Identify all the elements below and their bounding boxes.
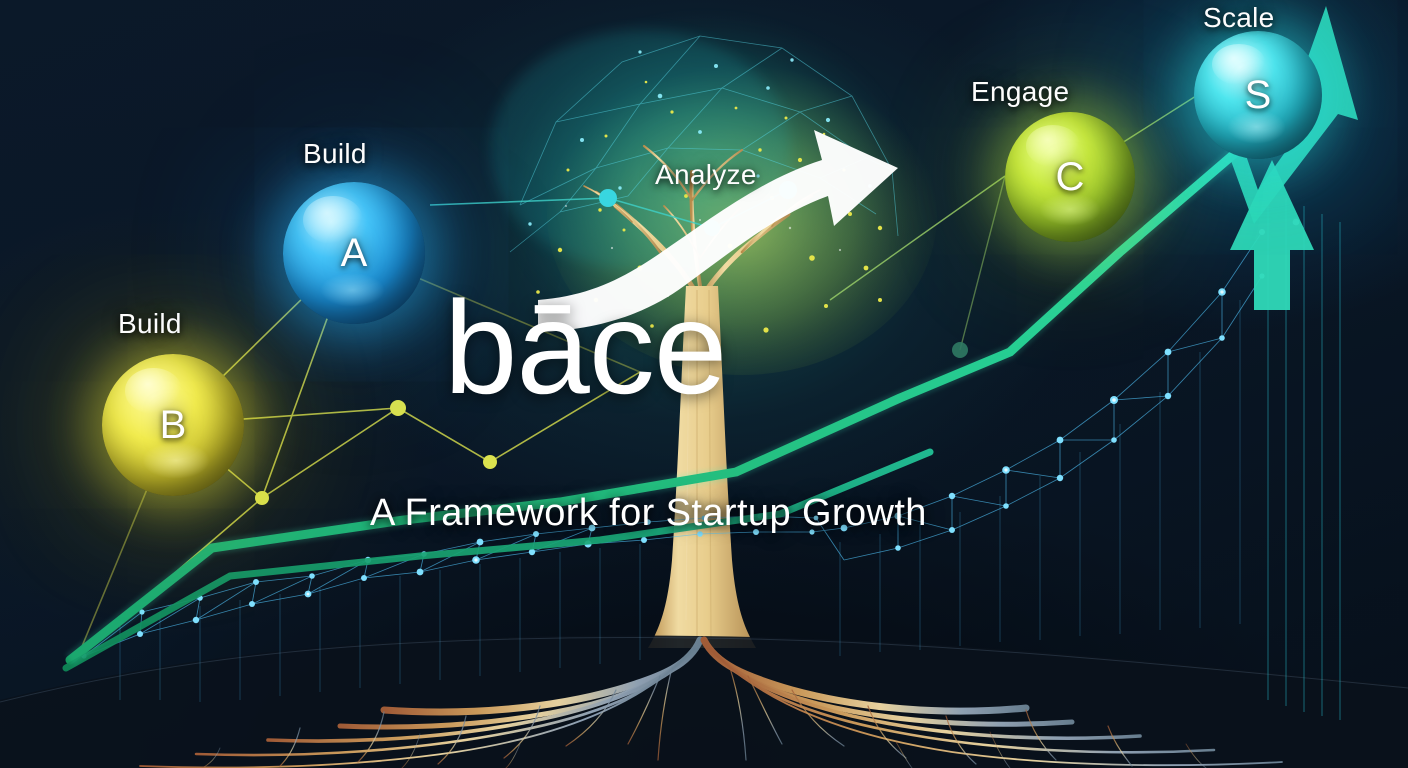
arrow-up-left-teal [1230, 160, 1314, 310]
node-label-engage: Engage [971, 76, 1069, 108]
tree-roots [140, 640, 1282, 768]
soil-band [0, 636, 1408, 768]
node-build-b[interactable]: B [102, 354, 244, 496]
node-glyph-a: A [341, 231, 368, 276]
node-glyph-b: B [160, 403, 187, 448]
hero-banner: B Build A Build Analyze C Engage S Scale… [0, 0, 1408, 768]
brand-subtitle: A Framework for Startup Growth [370, 492, 927, 535]
canopy-mesh [510, 36, 898, 252]
node-glyph-c: C [1056, 155, 1085, 200]
node-label-build-b: Build [118, 308, 182, 340]
sphere-highlight-lower [142, 442, 210, 479]
node-label-build-a: Build [303, 138, 367, 170]
node-label-scale: Scale [1203, 2, 1275, 34]
brand-logo: bāce [444, 282, 726, 414]
node-build-a[interactable]: A [283, 182, 425, 324]
node-scale-s[interactable]: S [1194, 31, 1322, 159]
node-engage-c[interactable]: C [1005, 112, 1135, 242]
node-glyph-s: S [1245, 73, 1272, 118]
sphere-highlight-lower [320, 273, 385, 307]
node-label-analyze: Analyze [655, 159, 757, 191]
